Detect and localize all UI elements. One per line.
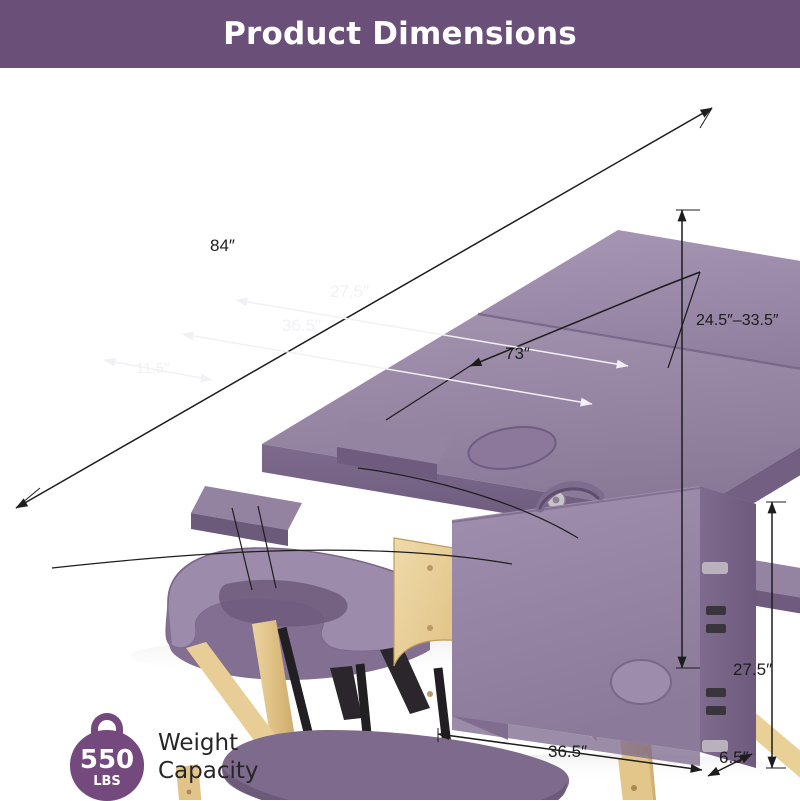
armrest-extension-near xyxy=(191,486,302,546)
weight-capacity-label-line1: Weight xyxy=(158,729,259,757)
arm-support-shelf xyxy=(222,730,569,800)
massage-table-folded-view xyxy=(452,486,756,768)
dim-label-armrest-width: 36.5″ xyxy=(282,316,321,336)
weight-capacity-unit: LBS xyxy=(70,775,144,788)
page-title: Product Dimensions xyxy=(223,16,577,52)
dim-label-headrest-width: 11.5″ xyxy=(136,360,169,377)
dim-label-table-width: 27.5″ xyxy=(330,282,369,302)
dim-label-folded-height: 27.5″ xyxy=(733,660,772,680)
kettlebell-weight-icon: 550 LBS xyxy=(70,713,144,801)
folded-front-panel xyxy=(452,486,700,752)
dim-label-overall-length: 84″ xyxy=(210,236,235,256)
weight-capacity-label-line2: Capacity xyxy=(158,757,259,785)
dim-label-folded-depth: 6.5″ xyxy=(719,748,749,768)
weight-capacity-number: 550 xyxy=(70,747,144,773)
folded-face-hole xyxy=(611,660,671,704)
header-banner: Product Dimensions xyxy=(0,0,800,68)
dim-label-height-range: 24.5″–33.5″ xyxy=(696,312,779,330)
product-dimensions-infographic: Product Dimensions xyxy=(0,0,800,800)
product-illustration xyxy=(0,68,800,800)
dim-label-bed-length: 73″ xyxy=(505,344,530,364)
weight-capacity-block: 550 LBS Weight Capacity xyxy=(70,713,259,801)
dim-label-folded-length: 36.5″ xyxy=(548,742,587,762)
illustration-stage: 84″ 27.5″ 36.5″ 11.5″ 73″ 24.5″–33.5″ 27… xyxy=(0,68,800,800)
weight-capacity-label: Weight Capacity xyxy=(158,729,259,785)
